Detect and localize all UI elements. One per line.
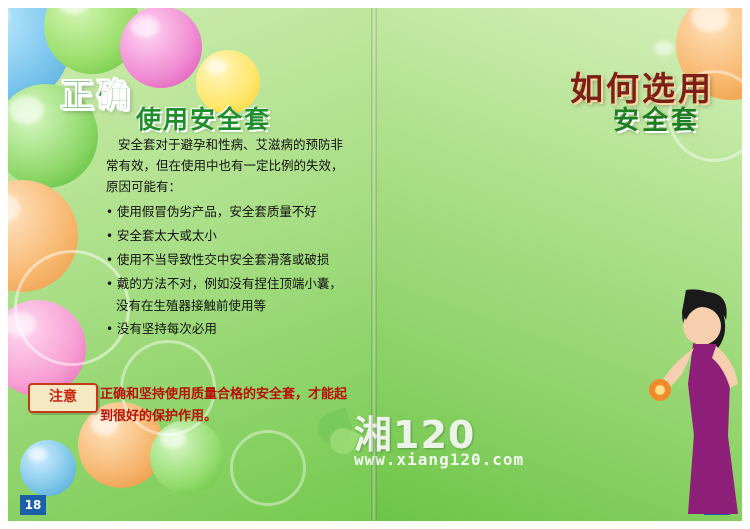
bullet-dot-icon: • [106,205,117,219]
page-frame-right [742,0,750,529]
left-bullet-3: • 使用不当导致性交中安全套滑落或破损 [106,249,346,271]
left-bullet-1: • 使用假冒伪劣产品，安全套质量不好 [106,201,346,223]
left-page: 正确 使用安全套 安全套对于避孕和性病、艾滋病的预防非常有效，但在使用中也有一定… [0,0,374,529]
page-frame-left [0,0,8,529]
left-bullet-4-text: 戴的方法不对，例如没有捏住顶端小囊，没有在生殖器接触前使用等 [116,276,342,313]
brochure-page: 正确 使用安全套 安全套对于避孕和性病、艾滋病的预防非常有效，但在使用中也有一定… [0,0,750,529]
note-tag-badge: 注意 [28,383,98,413]
right-heading-line2: 安全套 [613,100,700,137]
bubble-decoration [120,6,202,88]
book-spine [371,0,377,529]
left-heading-line2: 使用安全套 [136,100,271,136]
bubble-decoration [20,440,76,496]
bubble-outline-decoration [230,430,306,506]
bullet-dot-icon: • [106,253,117,267]
left-bullet-2: • 安全套太大或太小 [106,225,346,247]
left-bullet-5-text: 没有坚持每次必用 [117,321,217,336]
left-bullet-3-text: 使用不当导致性交中安全套滑落或破损 [117,252,330,267]
bullet-dot-icon: • [106,322,117,336]
left-bullet-4: • 戴的方法不对，例如没有捏住顶端小囊，没有在生殖器接触前使用等 [106,273,346,316]
left-bullet-1-text: 使用假冒伪劣产品，安全套质量不好 [117,204,317,219]
left-heading-line1: 正确 [60,68,132,117]
left-bullet-2-text: 安全套太大或太小 [117,228,217,243]
page-frame-top [0,0,750,8]
bullet-dot-icon: • [106,277,117,291]
left-bullet-5: • 没有坚持每次必用 [106,318,346,340]
left-body-text: 安全套对于避孕和性病、艾滋病的预防非常有效，但在使用中也有一定比例的失效，原因可… [106,134,346,342]
woman-silhouette-illustration [638,286,746,516]
bullet-dot-icon: • [106,229,117,243]
left-intro-paragraph: 安全套对于避孕和性病、艾滋病的预防非常有效，但在使用中也有一定比例的失效，原因可… [106,134,346,197]
page-number-left: 18 [20,495,46,515]
page-frame-bottom [0,521,750,529]
right-page: 如何选用 安全套 • 不图便宜：要购买有商标、厂名、生产和保质日期、使用说明书的… [374,0,750,529]
note-text: 正确和坚持使用质量合格的安全套，才能起到很好的保护作用。 [100,384,355,428]
note-tag-label: 注意 [30,385,96,409]
